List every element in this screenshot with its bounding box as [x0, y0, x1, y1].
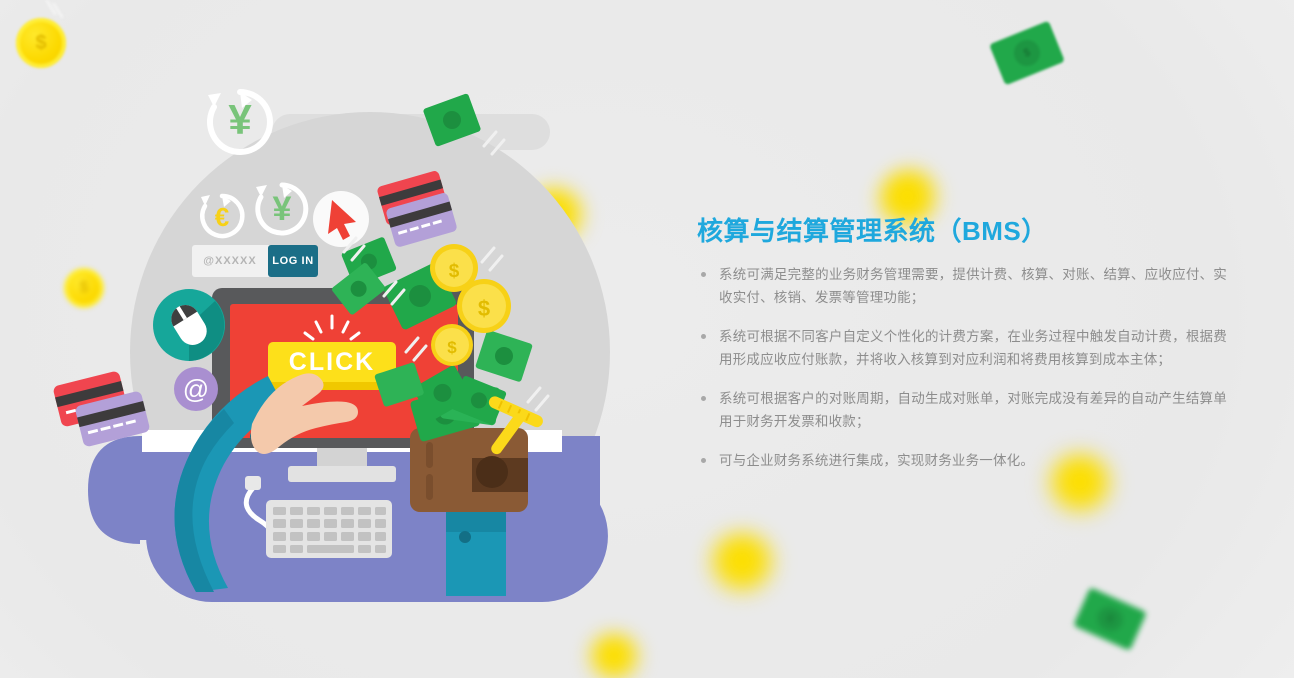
svg-text:$: $: [449, 261, 460, 282]
dollar-bill-icon: $: [1073, 587, 1147, 651]
at-sign-icon: @: [183, 374, 209, 404]
svg-text:$: $: [478, 296, 490, 321]
bill-decor: $: [989, 21, 1065, 86]
svg-text:¥: ¥: [228, 96, 252, 143]
wallet-stitch: [426, 442, 433, 468]
wallet-clasp: [476, 456, 508, 488]
login-button[interactable]: LOG IN: [268, 245, 318, 277]
right-sleeve-button: [459, 531, 471, 543]
list-item: 系统可根据不同客户自定义个性化的计费方案，在业务过程中触发自动计费，根据费用形成…: [697, 325, 1227, 371]
svg-text:¥: ¥: [273, 190, 292, 228]
yen-exchange-large-icon: ¥: [208, 92, 270, 152]
bms-illustration: ¥ ¥ € @: [0, 0, 660, 678]
right-arm-cuff: [446, 510, 506, 532]
monitor-base: [288, 466, 396, 482]
bokeh-coin: [706, 531, 778, 597]
svg-text:€: €: [215, 202, 229, 232]
login-bar: @XXXXX LOG IN: [192, 245, 318, 277]
click-button-label[interactable]: CLICK: [268, 342, 396, 382]
wallet-stitch: [426, 474, 433, 500]
page-title: 核算与结算管理系统（BMS）: [697, 216, 1227, 247]
feature-list: 系统可满足完整的业务财务管理需要，提供计费、核算、对账、结算、应收应付、实收实付…: [697, 263, 1227, 472]
dollar-bill-icon: $: [989, 21, 1065, 86]
flying-coin: $: [431, 324, 473, 366]
svg-text:$: $: [447, 338, 457, 357]
list-item: 系统可根据客户的对账周期，自动生成对账单，对账完成没有差异的自动产生结算单用于财…: [697, 387, 1227, 433]
illustration-svg: ¥ ¥ € @: [0, 0, 660, 678]
login-input[interactable]: @XXXXX: [192, 245, 268, 277]
flying-coin: $: [457, 279, 511, 333]
bill-decor: $: [1073, 587, 1147, 651]
list-item: 系统可满足完整的业务财务管理需要，提供计费、核算、对账、结算、应收应付、实收实付…: [697, 263, 1227, 309]
keyboard-plug: [245, 476, 261, 490]
content-column: 核算与结算管理系统（BMS） 系统可满足完整的业务财务管理需要，提供计费、核算、…: [697, 216, 1227, 488]
list-item: 可与企业财务系统进行集成，实现财务业务一体化。: [697, 449, 1227, 472]
desk-blob-left-round: [88, 436, 140, 544]
